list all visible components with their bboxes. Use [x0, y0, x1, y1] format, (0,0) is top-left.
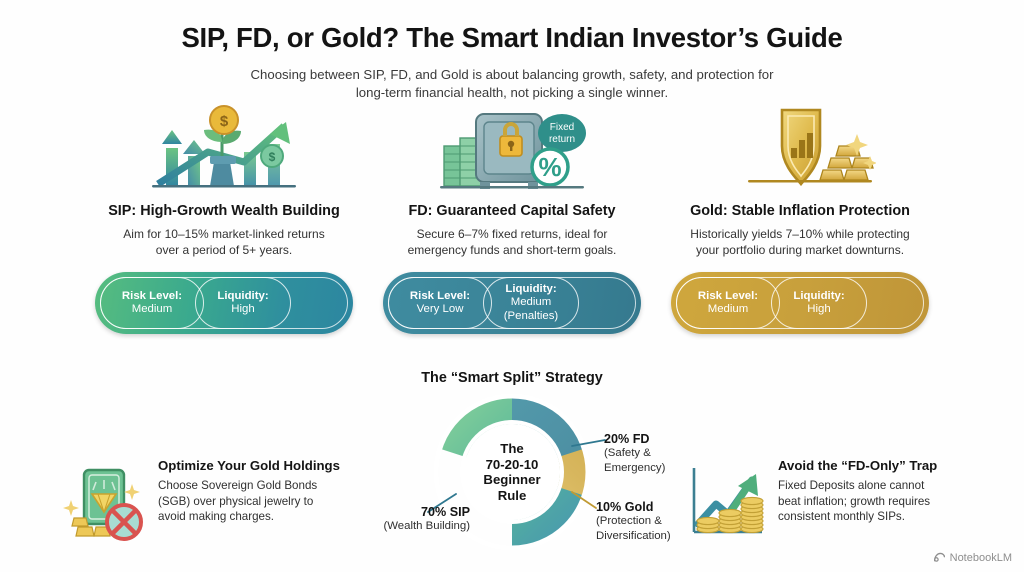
tip-gold-text: Optimize Your Gold Holdings Choose Sover…	[158, 458, 362, 525]
tip-fd-body: Fixed Deposits alone cannot beat inflati…	[778, 478, 982, 525]
notebooklm-label: NotebookLM	[950, 552, 1012, 564]
card-gold-liquidity-label: Liquidity:	[793, 290, 844, 304]
card-sip-description: Aim for 10–15% market-linked returns ove…	[74, 226, 374, 258]
gold-illustration	[650, 100, 950, 192]
card-sip-desc-line-2: over a period of 5+ years.	[74, 242, 374, 258]
coin-stack-small	[697, 517, 719, 532]
card-fd-liquidity-label: Liquidity:	[505, 283, 556, 297]
card-sip-risk-value: Medium	[132, 303, 173, 317]
svg-text:$: $	[269, 150, 276, 164]
card-sip: $ $ SIP: High-Growth Wealth Building Aim…	[74, 100, 374, 334]
card-gold-risk-capsule: Risk Level: Medium	[676, 277, 780, 329]
header: SIP, FD, or Gold? The Smart Indian Inves…	[0, 22, 1024, 102]
rising-arrow-coin-stacks-icon	[682, 460, 768, 546]
tip-fd-line-2: beat inflation; growth requires	[778, 494, 982, 510]
callout-fd-lead: 20% FD	[604, 432, 744, 446]
card-gold-risk-label: Risk Level:	[698, 290, 758, 304]
card-fd-title: FD: Guaranteed Capital Safety	[362, 203, 662, 219]
card-sip-liquidity-value: High	[231, 303, 254, 317]
card-sip-liquidity-label: Liquidity:	[217, 290, 268, 304]
gold-bond-diamond-no-jewelry-icon	[62, 460, 148, 546]
tip-fd-only-trap: Avoid the “FD-Only” Trap Fixed Deposits …	[682, 458, 982, 525]
no-jewelry-badge	[107, 505, 141, 539]
tip-fd-text: Avoid the “FD-Only” Trap Fixed Deposits …	[778, 458, 982, 525]
card-sip-title: SIP: High-Growth Wealth Building	[74, 203, 374, 219]
tip-fd-illustration	[682, 460, 768, 546]
infographic-page: SIP, FD, or Gold? The Smart Indian Inves…	[0, 0, 1024, 572]
card-gold-title: Gold: Stable Inflation Protection	[650, 203, 950, 219]
tip-gold-line-1: Choose Sovereign Gold Bonds	[158, 478, 362, 494]
tip-gold-line-2: (SGB) over physical jewelry to	[158, 494, 362, 510]
coin-stack-medium	[719, 509, 741, 532]
subtitle-line-1: Choosing between SIP, FD, and Gold is ab…	[0, 66, 1024, 84]
card-gold-liquidity-value: High	[807, 303, 830, 317]
card-fd-desc-line-1: Secure 6–7% fixed returns, ideal for	[362, 226, 662, 242]
page-subtitle: Choosing between SIP, FD, and Gold is ab…	[0, 66, 1024, 102]
card-fd-desc-line-2: emergency funds and short-term goals.	[362, 242, 662, 258]
card-gold-description: Historically yields 7–10% while protecti…	[650, 226, 950, 258]
tip-gold-line-3: avoid making charges.	[158, 509, 362, 525]
card-sip-desc-line-1: Aim for 10–15% market-linked returns	[74, 226, 374, 242]
card-gold: Gold: Stable Inflation Protection Histor…	[650, 100, 950, 334]
svg-text:%: %	[538, 152, 561, 182]
card-gold-desc-line-2: your portfolio during market downturns.	[650, 242, 950, 258]
card-gold-liquidity-capsule: Liquidity: High	[771, 277, 867, 329]
gold-shield-bars-icon	[724, 100, 876, 192]
card-fd-risk-capsule: Risk Level: Very Low	[388, 277, 492, 329]
strategy-title: The “Smart Split” Strategy	[0, 370, 1024, 386]
tip-gold-title: Optimize Your Gold Holdings	[158, 458, 362, 473]
tip-gold-body: Choose Sovereign Gold Bonds (SGB) over p…	[158, 478, 362, 525]
svg-text:$: $	[220, 113, 229, 130]
safe-lock-coins-percent-icon: Fixed return %	[436, 100, 588, 192]
tip-fd-line-1: Fixed Deposits alone cannot	[778, 478, 982, 494]
coin-stack-tall	[741, 497, 763, 532]
tip-gold-illustration	[62, 460, 148, 546]
card-gold-desc-line-1: Historically yields 7–10% while protecti…	[650, 226, 950, 242]
notebooklm-watermark: NotebookLM	[933, 551, 1012, 564]
card-gold-metrics-pill: Risk Level: Medium Liquidity: High	[671, 272, 929, 334]
card-fd-risk-label: Risk Level:	[410, 290, 470, 304]
card-sip-liquidity-capsule: Liquidity: High	[195, 277, 291, 329]
card-fd-description: Secure 6–7% fixed returns, ideal for eme…	[362, 226, 662, 258]
comparison-cards: $ $ SIP: High-Growth Wealth Building Aim…	[0, 100, 1024, 330]
card-fd-liquidity-value: Medium	[511, 296, 552, 310]
tip-gold-holdings: Optimize Your Gold Holdings Choose Sover…	[62, 458, 362, 525]
growth-chart-plant-coin-icon: $ $	[148, 100, 300, 192]
tip-fd-title: Avoid the “FD-Only” Trap	[778, 458, 982, 473]
card-sip-metrics-pill: Risk Level: Medium Liquidity: High	[95, 272, 353, 334]
card-sip-risk-label: Risk Level:	[122, 290, 182, 304]
card-fd-metrics-pill: Risk Level: Very Low Liquidity: Medium (…	[383, 272, 641, 334]
fd-illustration: Fixed return %	[362, 100, 662, 192]
svg-text:Fixed: Fixed	[550, 122, 574, 133]
card-fd-liquidity-capsule: Liquidity: Medium (Penalties)	[483, 277, 579, 329]
page-title: SIP, FD, or Gold? The Smart Indian Inves…	[0, 22, 1024, 54]
card-fd-liquidity-note: (Penalties)	[504, 310, 558, 324]
card-gold-risk-value: Medium	[708, 303, 749, 317]
card-fd: Fixed return % FD: Guaranteed Capital Sa…	[362, 100, 662, 334]
card-fd-risk-value: Very Low	[417, 303, 464, 317]
svg-text:return: return	[549, 134, 575, 145]
card-sip-risk-capsule: Risk Level: Medium	[100, 277, 204, 329]
tip-fd-line-3: consistent monthly SIPs.	[778, 509, 982, 525]
sip-illustration: $ $	[74, 100, 374, 192]
notebooklm-icon	[933, 551, 946, 564]
